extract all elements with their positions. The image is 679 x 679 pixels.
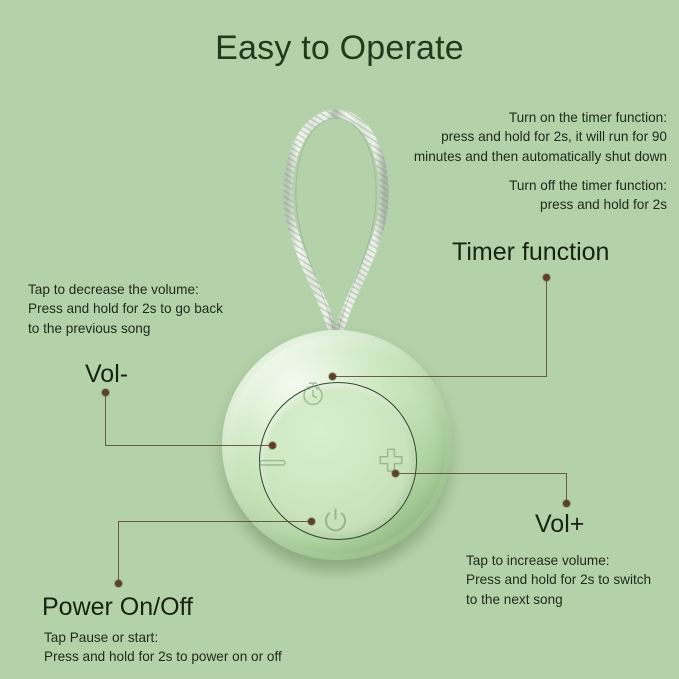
timer-leader-line-horizontal [335,376,547,377]
power-label: Power On/Off [42,592,193,622]
volume-up-leader-line-horizontal [396,473,566,474]
timer-leader-line-vertical [546,278,547,377]
power-leader-line-vertical [118,521,119,583]
timer-leader-dot-button [329,373,336,380]
volume-up-note: Tap to increase volume: Press and hold f… [466,551,679,609]
power-leader-dot-button [308,518,315,525]
power-icon[interactable] [320,505,351,536]
minus-icon[interactable] [259,458,286,468]
infographic-canvas: Easy to Operate [0,0,679,679]
volume-up-label: Vol+ [535,509,584,539]
volume-up-leader-dot-outer [563,500,570,507]
stopwatch-icon[interactable] [298,378,328,408]
lanyard-strap [276,100,396,345]
power-note: Tap Pause or start: Press and hold for 2… [44,628,344,667]
volume-down-leader-line-vertical [105,393,106,445]
timer-off-note: Turn off the timer function: press and h… [399,176,667,215]
volume-down-leader-line-horizontal [105,445,273,446]
volume-down-label: Vol- [85,359,128,389]
timer-on-note: Turn on the timer function: press and ho… [399,108,667,166]
power-leader-line-horizontal [118,521,312,522]
volume-up-leader-line-vertical [566,473,567,503]
plus-icon[interactable] [377,448,405,476]
timer-label: Timer function [452,237,609,267]
page-title: Easy to Operate [0,27,679,69]
volume-down-note: Tap to decrease the volume: Press and ho… [28,280,278,338]
volume-down-leader-dot-button [269,442,276,449]
